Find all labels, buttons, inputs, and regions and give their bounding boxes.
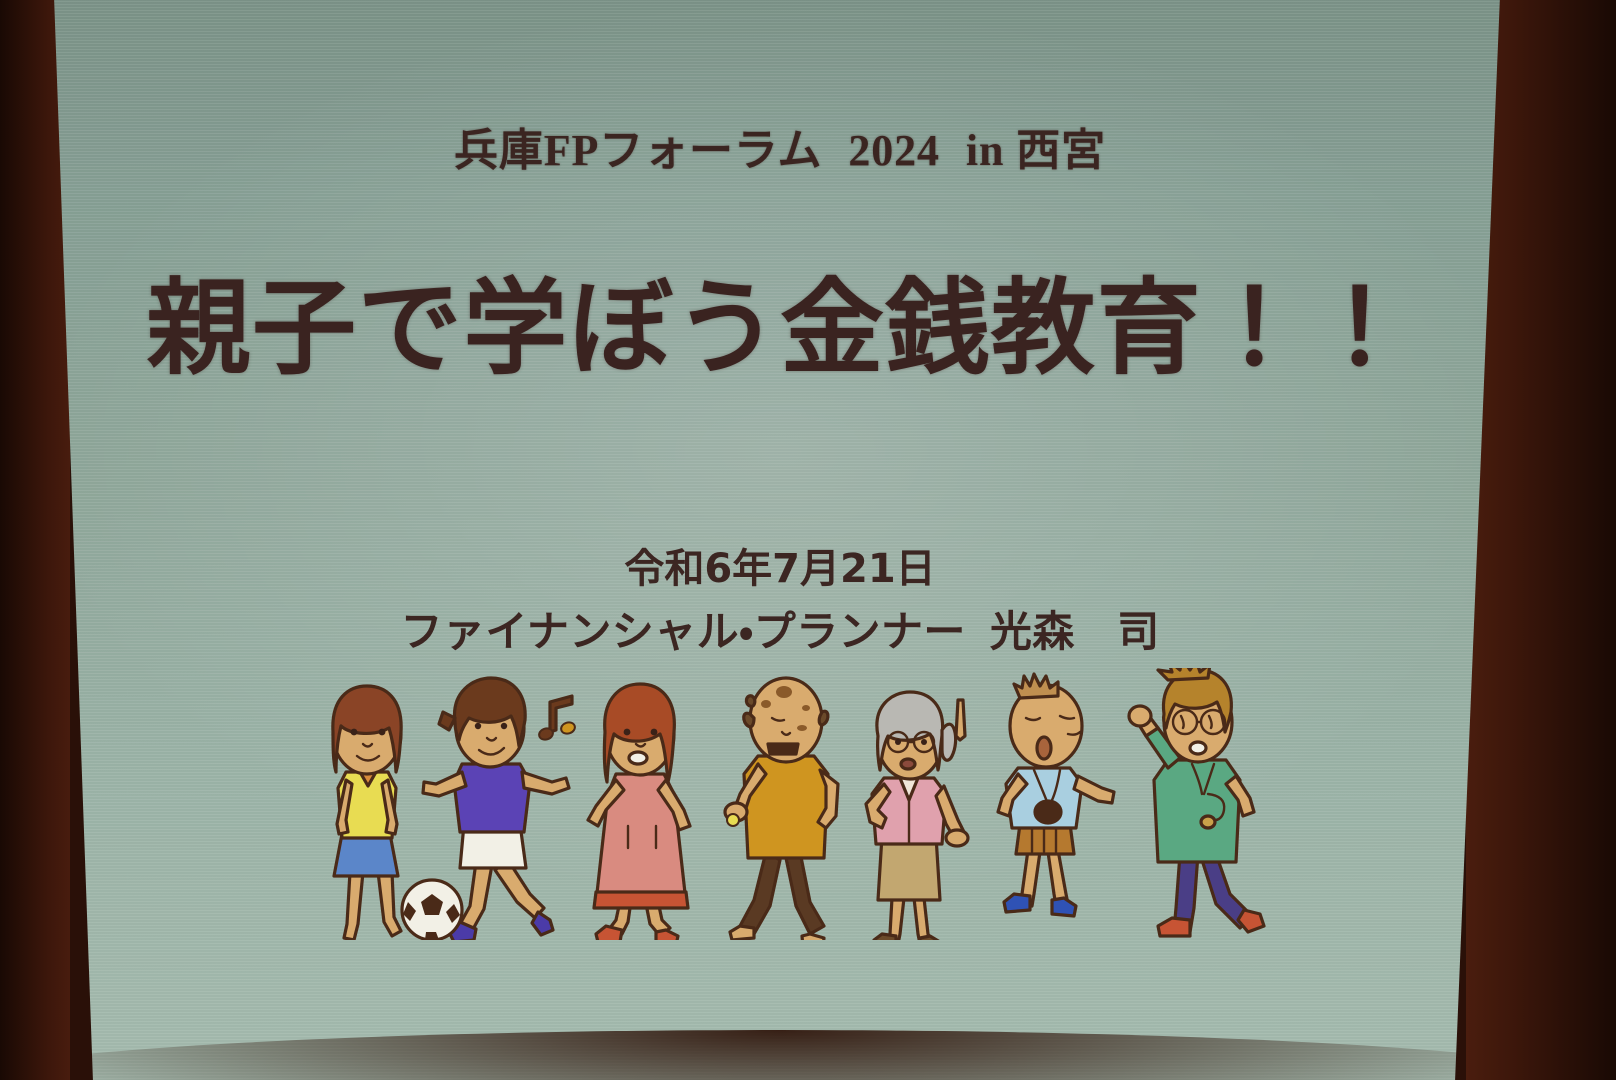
slide-content: 兵庫FPフォーラム2024in 西宮 親子で学ぼう金銭教育！！ 令和6年7月21…: [30, 0, 1530, 1080]
presenter-name: 光森 司: [990, 607, 1160, 656]
event-year: 2024: [848, 126, 940, 175]
event-place: in 西宮: [966, 126, 1106, 175]
event-subtitle: 兵庫FPフォーラム2024in 西宮: [30, 114, 1530, 178]
figure-man-glasses: [1129, 668, 1264, 936]
people-illustration: .ol{stroke:#4a2a18;stroke-width:3.2;stro…: [292, 668, 1332, 940]
music-note: [538, 696, 577, 741]
slide-title: 親子で学ぼう金銭教育！！: [30, 272, 1530, 384]
figure-elderly-man: [725, 678, 838, 940]
presenter-role: ファイナンシャル・プランナー: [400, 607, 965, 656]
figure-little-boy: [998, 674, 1114, 916]
projected-slide-photo: 兵庫FPフォーラム2024in 西宮 親子で学ぼう金銭教育！！ 令和6年7月21…: [0, 0, 1616, 1080]
figure-elderly-woman: [866, 692, 968, 940]
screen-surround-left: [0, 0, 70, 1080]
presenter-byline: ファイナンシャル・プランナー光森 司: [30, 598, 1530, 659]
figure-woman: [588, 684, 690, 940]
figure-boy-soccer: [402, 678, 576, 940]
soccer-ball: [402, 880, 462, 940]
presentation-date: 令和6年7月21日: [30, 536, 1530, 594]
figure-girl: [333, 686, 401, 940]
event-organizer: 兵庫FPフォーラム: [454, 126, 822, 175]
presentation-slide: 兵庫FPフォーラム2024in 西宮 親子で学ぼう金銭教育！！ 令和6年7月21…: [30, 0, 1530, 1080]
